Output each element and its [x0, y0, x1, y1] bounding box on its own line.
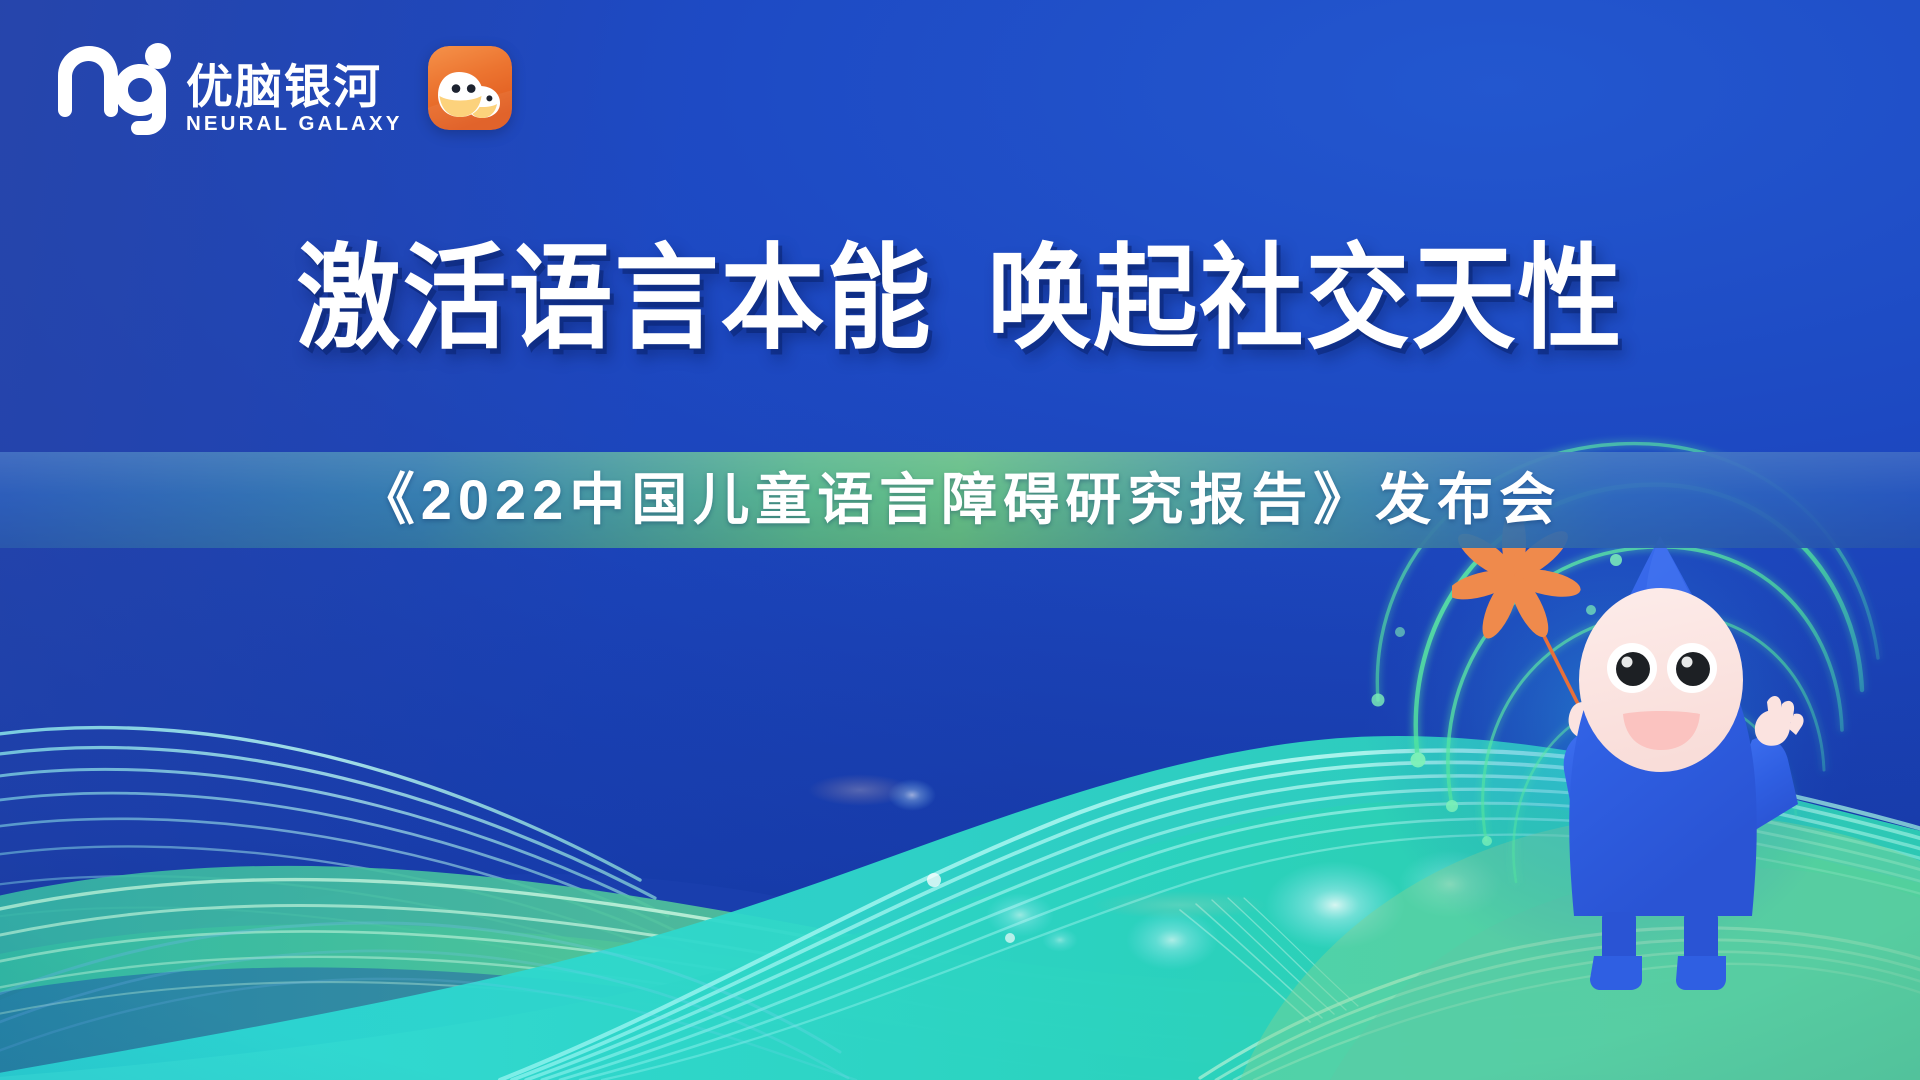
mascot-right-hand [1755, 696, 1804, 746]
bird-large [438, 72, 483, 117]
headline-part-1: 激活语言本能 [297, 238, 933, 362]
brand-lockup: 优脑银河 NEURAL GALAXY [54, 40, 402, 136]
subtitle-text: 《2022中国儿童语言障碍研究报告》发布会 [359, 472, 1562, 528]
subtitle-band: 《2022中国儿童语言障碍研究报告》发布会 [0, 452, 1920, 548]
two-birds-app-icon[interactable] [428, 46, 512, 130]
poster-canvas: 优脑银河 NEURAL GALAXY [0, 0, 1920, 1080]
brand-header: 优脑银河 NEURAL GALAXY [54, 40, 512, 136]
brand-name-en: NEURAL GALAXY [186, 114, 402, 135]
mascot-shoes [1590, 956, 1726, 990]
headline: 激活语言本能 唤起社交天性 [0, 238, 1920, 350]
mascot [1452, 480, 1872, 1000]
brand-wordmark: 优脑银河 NEURAL GALAXY [186, 64, 402, 136]
ng-monogram-logo [54, 40, 172, 136]
headline-part-2: 唤起社交天性 [987, 238, 1623, 362]
brand-name-cn: 优脑银河 [186, 64, 402, 110]
